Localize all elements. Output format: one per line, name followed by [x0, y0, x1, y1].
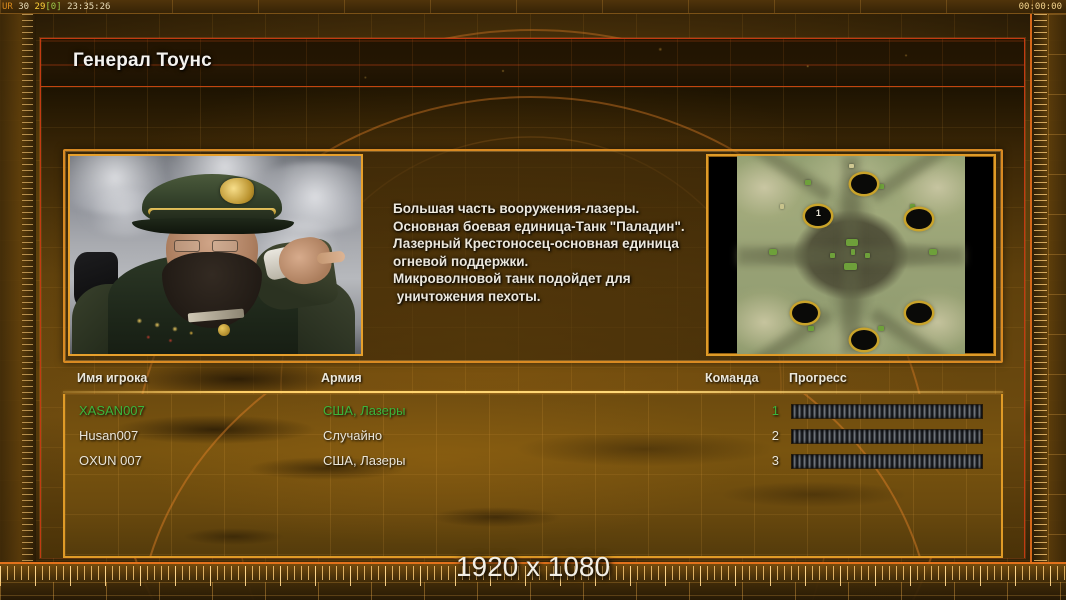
- map-start-position: [851, 174, 877, 194]
- map-preview-frame: 1: [706, 154, 996, 356]
- left-ruler-ticks: [22, 14, 33, 562]
- resolution-watermark: 1920 x 1080: [0, 551, 1066, 583]
- briefing-description-area: Большая часть вооружения-лазеры. Основна…: [363, 154, 706, 358]
- player-team: 2: [707, 428, 779, 443]
- right-ruler-ticks: [1034, 14, 1047, 562]
- map-start-position: [851, 330, 877, 350]
- loading-screen-window: Генерал Тоунс: [40, 38, 1025, 558]
- window-titlebar: Генерал Тоунс: [41, 39, 1024, 87]
- portrait-glasses-right: [212, 240, 238, 252]
- player-name: OXUN 007: [79, 453, 142, 468]
- map-start-position: [906, 209, 932, 229]
- player-rows: XASAN007США, Лазеры1Husan007Случайно2OXU…: [65, 394, 1001, 556]
- window-body: Большая часть вооружения-лазеры. Основна…: [41, 87, 1024, 558]
- player-team: 3: [707, 453, 779, 468]
- player-progress-bar: [791, 404, 983, 419]
- column-header-name: Имя игрока: [77, 371, 147, 385]
- map-start-position: [906, 303, 932, 323]
- game-screen: UR 30 29[0] 23:35:26 00:00:00 Генерал То…: [0, 0, 1066, 600]
- player-team: 1: [707, 403, 779, 418]
- map-start-position: 1: [805, 206, 831, 226]
- map-preview-image: 1: [737, 156, 965, 354]
- column-header-progress: Прогресс: [789, 371, 847, 385]
- map-start-position-label: 1: [805, 208, 831, 218]
- debug-status-bar: UR 30 29[0] 23:35:26 00:00:00: [0, 0, 1066, 14]
- portrait-glasses-left: [174, 240, 200, 252]
- player-row[interactable]: Husan007Случайно2: [65, 425, 1001, 450]
- player-list-panel: XASAN007США, Лазеры1Husan007Случайно2OXU…: [63, 394, 1003, 558]
- portrait-cap-brim: [132, 218, 294, 234]
- column-header-team: Команда: [705, 371, 759, 385]
- status-bar-cells: [0, 0, 1066, 13]
- left-ruler: [0, 14, 36, 562]
- player-list-header: Имя игрока Армия Команда Прогресс: [63, 371, 1003, 393]
- player-army: США, Лазеры: [323, 403, 405, 418]
- player-row[interactable]: XASAN007США, Лазеры1: [65, 400, 1001, 425]
- player-army: Случайно: [323, 428, 382, 443]
- portrait-medals: [132, 312, 206, 346]
- player-name: XASAN007: [79, 403, 145, 418]
- player-row[interactable]: OXUN 007США, Лазеры3: [65, 450, 1001, 475]
- page-title: Генерал Тоунс: [73, 50, 212, 72]
- player-progress-bar: [791, 429, 983, 444]
- right-ruler-cells: [1048, 14, 1066, 562]
- briefing-description-text: Большая часть вооружения-лазеры. Основна…: [393, 200, 706, 305]
- player-name: Husan007: [79, 428, 138, 443]
- general-portrait-image: [70, 156, 361, 354]
- player-progress-bar: [791, 454, 983, 469]
- portrait-button: [218, 324, 230, 336]
- map-start-position: [792, 303, 818, 323]
- status-bar-clock: 00:00:00: [1019, 0, 1062, 14]
- briefing-panel: Большая часть вооружения-лазеры. Основна…: [63, 149, 1003, 363]
- player-list-divider: [63, 391, 1003, 393]
- status-bar-left: UR 30 29[0] 23:35:26: [2, 0, 110, 14]
- column-header-army: Армия: [321, 371, 362, 385]
- general-portrait-frame: [68, 154, 363, 356]
- player-army: США, Лазеры: [323, 453, 405, 468]
- right-ruler: [1030, 14, 1066, 562]
- bottom-ruler-cells: [0, 582, 1066, 600]
- portrait-cap-emblem: [220, 178, 254, 204]
